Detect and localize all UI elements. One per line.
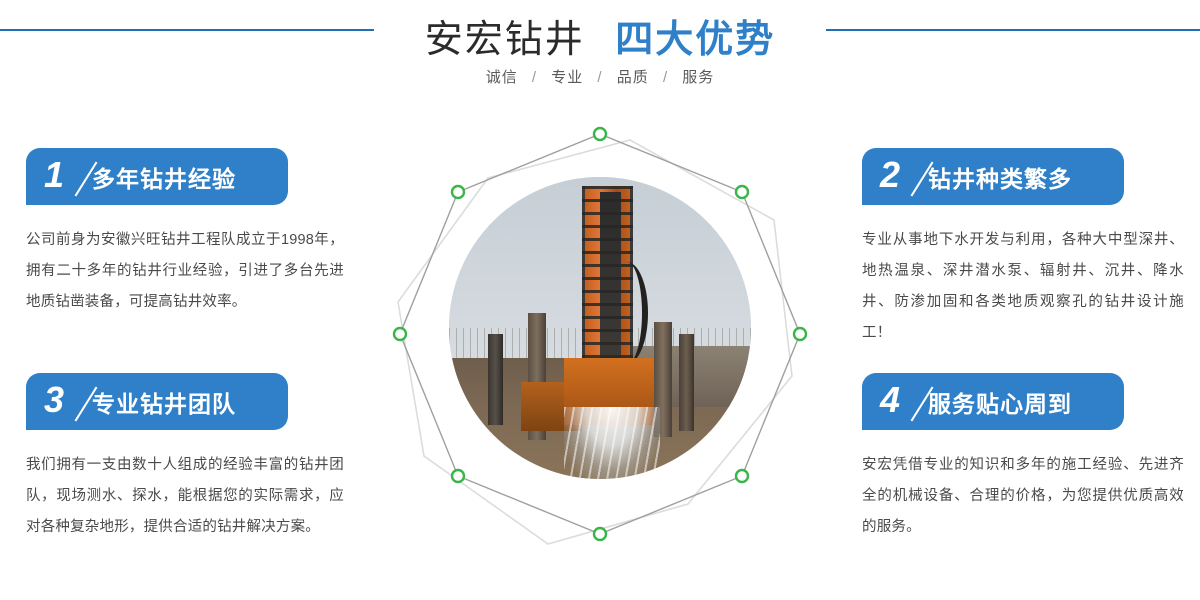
advantage-card-1: 1 多年钻井经验 公司前身为安徽兴旺钻井工程队成立于1998年，拥有二十多年的钻… bbox=[26, 148, 356, 318]
advantage-card-3-header[interactable]: 3 专业钻井团队 bbox=[26, 373, 288, 430]
number-badge-3-digit: 3 bbox=[44, 380, 64, 420]
photo-leg-far-left bbox=[488, 334, 503, 425]
photo-water-streaks bbox=[564, 407, 661, 479]
number-badge-2-icon: 2 bbox=[878, 157, 924, 197]
advantage-card-3: 3 专业钻井团队 我们拥有一支由数十人组成的经验丰富的钻井团队，现场测水、探水，… bbox=[26, 373, 356, 543]
centre-graphic bbox=[368, 112, 832, 582]
page-title-accent: 四大优势 bbox=[615, 19, 775, 61]
subtitle-item-2: 专业 bbox=[551, 69, 583, 86]
number-badge-4-digit: 4 bbox=[880, 380, 900, 420]
page-title-main: 安宏钻井 bbox=[425, 19, 585, 61]
number-badge-2-digit: 2 bbox=[880, 155, 900, 195]
number-badge-3-icon: 3 bbox=[42, 382, 88, 422]
number-badge-4-icon: 4 bbox=[878, 382, 924, 422]
page-header: 安宏钻井 四大优势 诚信 / 专业 / 品质 / 服务 bbox=[0, 0, 1200, 110]
advantage-card-2-title: 钻井种类繁多 bbox=[928, 160, 1072, 194]
advantage-card-4: 4 服务贴心周到 安宏凭借专业的知识和多年的施工经验、先进齐全的机械设备、合理的… bbox=[862, 373, 1192, 543]
advantage-card-4-header[interactable]: 4 服务贴心周到 bbox=[862, 373, 1124, 430]
advantage-card-3-title: 专业钻井团队 bbox=[92, 385, 236, 419]
advantage-card-1-body: 公司前身为安徽兴旺钻井工程队成立于1998年，拥有二十多年的钻井行业经验，引进了… bbox=[26, 225, 344, 318]
page-title: 安宏钻井 四大优势 bbox=[0, 8, 1200, 63]
number-badge-1-digit: 1 bbox=[44, 155, 64, 195]
polygon-node-5 bbox=[594, 528, 606, 540]
promo-page: 安宏钻井 四大优势 诚信 / 专业 / 品质 / 服务 1 多年钻井经验 公司前… bbox=[0, 0, 1200, 600]
subtitle-separator-2: / bbox=[597, 69, 602, 86]
advantage-card-1-header[interactable]: 1 多年钻井经验 bbox=[26, 148, 288, 205]
advantage-card-1-title: 多年钻井经验 bbox=[92, 160, 236, 194]
subtitle-item-4: 服务 bbox=[682, 69, 714, 86]
advantage-card-3-body: 我们拥有一支由数十人组成的经验丰富的钻井团队，现场测水、探水，能根据您的实际需求… bbox=[26, 450, 344, 543]
subtitle-separator-1: / bbox=[532, 69, 537, 86]
subtitle-separator-3: / bbox=[663, 69, 668, 86]
polygon-node-3 bbox=[794, 328, 806, 340]
subtitle-item-3: 品质 bbox=[617, 69, 649, 86]
subtitle-item-1: 诚信 bbox=[486, 69, 518, 86]
drilling-site-photo bbox=[449, 177, 751, 479]
photo-leg-far-right bbox=[679, 334, 694, 431]
polygon-node-7 bbox=[394, 328, 406, 340]
advantage-card-4-title: 服务贴心周到 bbox=[928, 385, 1072, 419]
advantage-card-2: 2 钻井种类繁多 专业从事地下水开发与利用，各种大中型深井、地热温泉、深井潜水泵… bbox=[862, 148, 1192, 349]
page-subtitle: 诚信 / 专业 / 品质 / 服务 bbox=[0, 66, 1200, 87]
number-badge-1-icon: 1 bbox=[42, 157, 88, 197]
advantage-card-2-header[interactable]: 2 钻井种类繁多 bbox=[862, 148, 1124, 205]
advantage-card-2-body: 专业从事地下水开发与利用，各种大中型深井、地热温泉、深井潜水泵、辐射井、沉井、降… bbox=[862, 225, 1184, 349]
advantage-card-4-body: 安宏凭借专业的知识和多年的施工经验、先进齐全的机械设备、合理的价格，为您提供优质… bbox=[862, 450, 1184, 543]
polygon-node-1 bbox=[594, 128, 606, 140]
